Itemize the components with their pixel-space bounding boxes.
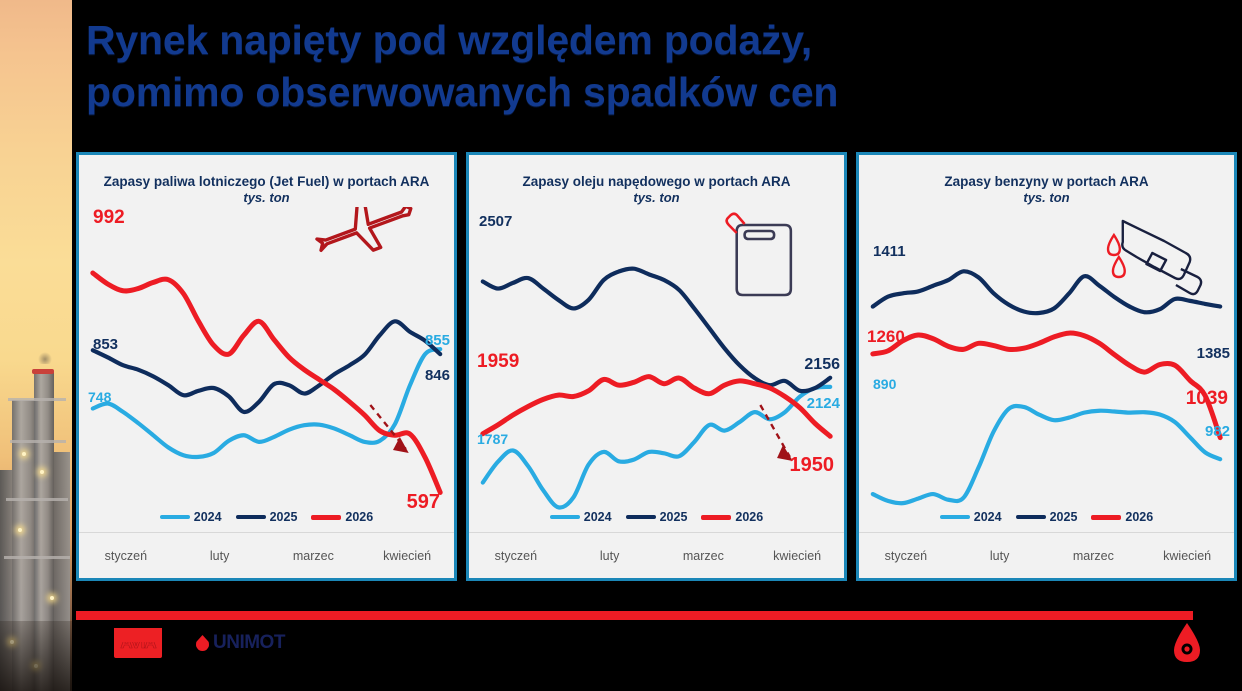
value-label: 1787 bbox=[477, 431, 508, 447]
smoke-plume bbox=[38, 352, 52, 364]
legend-swatch-2026 bbox=[311, 515, 341, 520]
x-tick-label: marzec bbox=[657, 549, 751, 563]
legend-item-2026[interactable]: 2026 bbox=[311, 510, 373, 524]
series-line-2024 bbox=[93, 349, 440, 457]
footer-bar bbox=[76, 620, 1242, 691]
facility-light bbox=[18, 528, 22, 532]
x-tick-label: luty bbox=[563, 549, 657, 563]
chart-panel-jet-fuel: Zapasy paliwa lotniczego (Jet Fuel) w po… bbox=[76, 152, 457, 581]
value-label: 1411 bbox=[873, 243, 906, 260]
value-label: 2156 bbox=[804, 356, 840, 374]
series-line-2026 bbox=[873, 333, 1220, 438]
legend-label-2024: 2024 bbox=[974, 510, 1002, 524]
legend-item-2025[interactable]: 2025 bbox=[236, 510, 298, 524]
series-lines-panel3 bbox=[873, 271, 1220, 503]
value-label: 1950 bbox=[790, 454, 835, 477]
value-label: 1260 bbox=[867, 327, 905, 347]
legend-label-2025: 2025 bbox=[660, 510, 688, 524]
tower-cap bbox=[32, 369, 54, 374]
legend-swatch-2025 bbox=[236, 515, 266, 519]
chart-plot-area bbox=[79, 207, 454, 527]
chart-subtitle: tys. ton bbox=[477, 190, 836, 205]
chart-title: Zapasy paliwa lotniczego (Jet Fuel) w po… bbox=[87, 173, 446, 190]
chart-x-axis: styczeń luty marzec kwiecień bbox=[859, 532, 1234, 578]
value-label: 992 bbox=[93, 207, 125, 229]
series-line-2026 bbox=[483, 377, 830, 437]
legend-item-2024[interactable]: 2024 bbox=[940, 510, 1002, 524]
trend-arrow-down-icon bbox=[760, 405, 792, 461]
oil-droplet-icon bbox=[1170, 622, 1204, 664]
slide-canvas: Rynek napięty pod względem podaży, pomim… bbox=[0, 0, 1242, 691]
series-line-2024 bbox=[873, 406, 1220, 503]
chart-title: Zapasy oleju napędowego w portach ARA bbox=[477, 173, 836, 190]
chart-legend: 2024 2025 2026 bbox=[469, 502, 844, 532]
value-label: 982 bbox=[1205, 423, 1230, 440]
legend-label-2024: 2024 bbox=[584, 510, 612, 524]
jerrycan-icon bbox=[727, 214, 791, 295]
refinery-base bbox=[0, 621, 72, 691]
tower-railing bbox=[8, 398, 66, 401]
legend-item-2025[interactable]: 2025 bbox=[1016, 510, 1078, 524]
chart-panel-gasoline: Zapasy benzyny w portach ARA tys. ton 14… bbox=[856, 152, 1237, 581]
x-tick-label: marzec bbox=[267, 549, 361, 563]
avia-logo-mark bbox=[114, 628, 162, 642]
x-tick-label: styczeń bbox=[469, 549, 563, 563]
page-title-line2: pomimo obserwowanych spadków cen bbox=[86, 66, 1096, 118]
chart-x-axis: styczeń luty marzec kwiecień bbox=[469, 532, 844, 578]
unimot-logo: UNIMOT bbox=[196, 632, 285, 654]
legend-item-2026[interactable]: 2026 bbox=[701, 510, 763, 524]
x-tick-label: luty bbox=[173, 549, 267, 563]
series-lines-panel2 bbox=[483, 269, 830, 508]
chart-subtitle: tys. ton bbox=[87, 190, 446, 205]
fuel-nozzle-icon bbox=[1122, 221, 1201, 294]
legend-label-2026: 2026 bbox=[1125, 510, 1153, 524]
facility-light bbox=[22, 452, 26, 456]
page-title: Rynek napięty pod względem podaży, pomim… bbox=[86, 14, 1096, 118]
chart-panel-diesel: Zapasy oleju napędowego w portach ARA ty… bbox=[466, 152, 847, 581]
tower-railing bbox=[10, 440, 66, 443]
droplet-icon bbox=[196, 635, 209, 651]
legend-swatch-2025 bbox=[1016, 515, 1046, 519]
legend-swatch-2024 bbox=[160, 515, 190, 519]
series-line-2025 bbox=[93, 321, 440, 412]
chart-x-axis: styczeń luty marzec kwiecień bbox=[79, 532, 454, 578]
series-lines-panel1 bbox=[93, 273, 440, 492]
legend-swatch-2025 bbox=[626, 515, 656, 519]
legend-swatch-2024 bbox=[940, 515, 970, 519]
x-tick-label: kwiecień bbox=[750, 549, 844, 563]
chart-legend: 2024 2025 2026 bbox=[79, 502, 454, 532]
value-label: 1385 bbox=[1197, 345, 1230, 362]
series-line-2026 bbox=[93, 273, 440, 492]
chart-legend: 2024 2025 2026 bbox=[859, 502, 1234, 532]
x-tick-label: kwiecień bbox=[360, 549, 454, 563]
facility-light bbox=[50, 596, 54, 600]
chart-title: Zapasy benzyny w portach ARA bbox=[867, 173, 1226, 190]
legend-swatch-2026 bbox=[701, 515, 731, 520]
legend-swatch-2026 bbox=[1091, 515, 1121, 520]
value-label: 890 bbox=[873, 376, 896, 392]
airplane-icon bbox=[311, 207, 420, 267]
x-tick-label: marzec bbox=[1047, 549, 1141, 563]
value-label: 2507 bbox=[479, 213, 512, 230]
chart-subtitle: tys. ton bbox=[867, 190, 1226, 205]
value-label: 2124 bbox=[807, 395, 840, 412]
value-label: 846 bbox=[425, 367, 450, 384]
legend-label-2025: 2025 bbox=[1050, 510, 1078, 524]
legend-label-2025: 2025 bbox=[270, 510, 298, 524]
facility-light bbox=[40, 470, 44, 474]
unimot-logo-label: UNIMOT bbox=[213, 632, 285, 654]
value-label: 853 bbox=[93, 336, 118, 353]
legend-label-2026: 2026 bbox=[345, 510, 373, 524]
value-label: 1039 bbox=[1186, 388, 1228, 410]
x-tick-label: luty bbox=[953, 549, 1047, 563]
x-tick-label: styczeń bbox=[859, 549, 953, 563]
refinery-photo bbox=[0, 0, 72, 691]
series-line-2025 bbox=[873, 271, 1220, 313]
avia-logo: AVIA bbox=[114, 628, 162, 658]
chart-plot-area bbox=[859, 207, 1234, 527]
legend-item-2024[interactable]: 2024 bbox=[550, 510, 612, 524]
chart-plot-area bbox=[469, 207, 844, 527]
page-title-line1: Rynek napięty pod względem podaży, bbox=[86, 17, 812, 63]
legend-item-2026[interactable]: 2026 bbox=[1091, 510, 1153, 524]
value-label: 748 bbox=[88, 389, 111, 405]
legend-item-2025[interactable]: 2025 bbox=[626, 510, 688, 524]
x-tick-label: styczeń bbox=[79, 549, 173, 563]
legend-label-2024: 2024 bbox=[194, 510, 222, 524]
legend-swatch-2024 bbox=[550, 515, 580, 519]
tower-railing bbox=[6, 498, 68, 501]
tower-railing bbox=[4, 556, 70, 559]
series-line-2025 bbox=[483, 269, 830, 392]
legend-label-2026: 2026 bbox=[735, 510, 763, 524]
x-tick-label: kwiecień bbox=[1140, 549, 1234, 563]
legend-item-2024[interactable]: 2024 bbox=[160, 510, 222, 524]
value-label: 1959 bbox=[477, 351, 519, 373]
footer-red-rule bbox=[76, 611, 1193, 620]
value-label: 855 bbox=[425, 332, 450, 349]
